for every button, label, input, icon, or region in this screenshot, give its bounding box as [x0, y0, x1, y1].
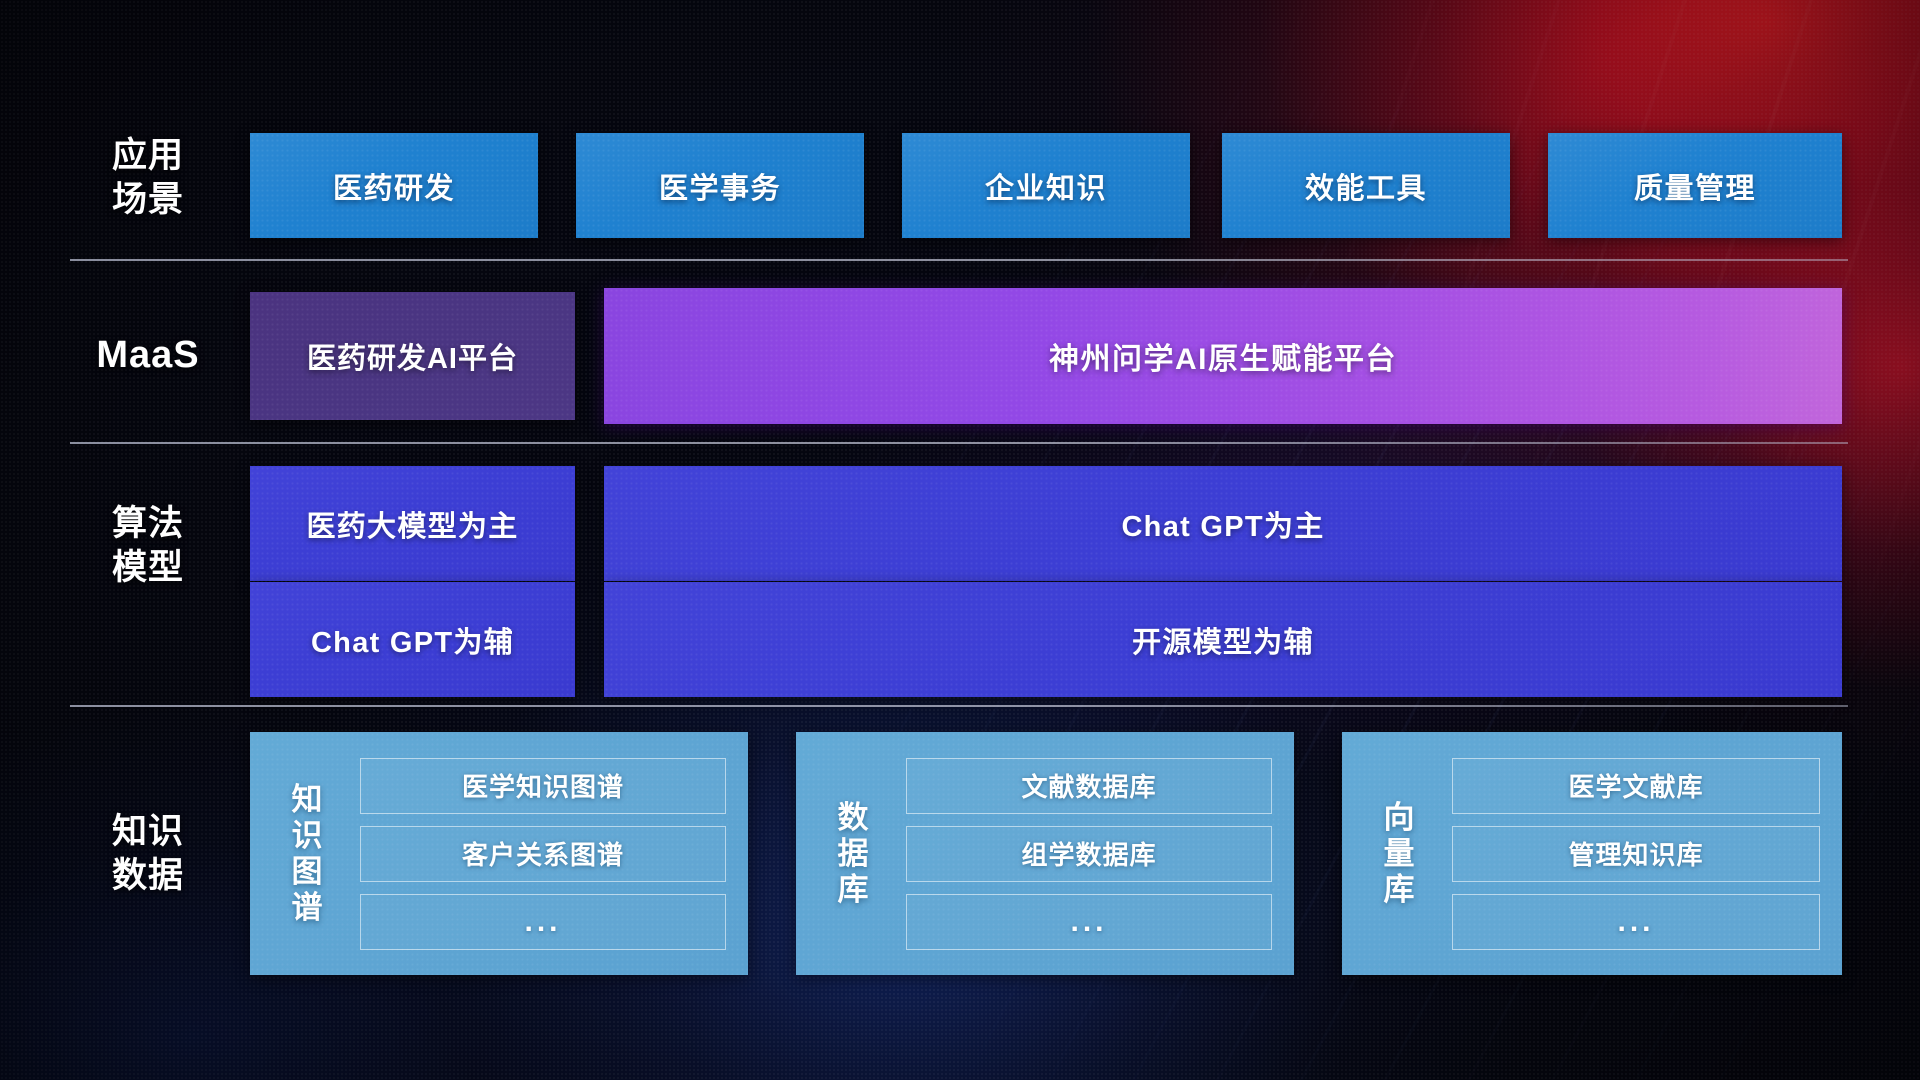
knowledge-group-0-item-1[interactable]: 客户关系图谱	[360, 826, 726, 882]
row-label-application-line1: 应用	[88, 134, 208, 178]
knowledge-group-1[interactable]: 数 据 库 文献数据库 组学数据库 ...	[796, 732, 1294, 975]
row-label-knowledge-line1: 知识	[88, 810, 208, 854]
knowledge-group-1-item-0[interactable]: 文献数据库	[906, 758, 1272, 814]
row-label-knowledge-line2: 数据	[88, 854, 208, 898]
algorithm-box-1-label: Chat GPT为主	[1121, 503, 1324, 545]
algorithm-box-2[interactable]: Chat GPT为辅	[250, 582, 575, 697]
app-box-0[interactable]: 医药研发	[250, 133, 538, 238]
knowledge-group-0-item-2[interactable]: ...	[360, 894, 726, 950]
row-label-algorithm: 算法 模型	[88, 502, 208, 590]
knowledge-group-2-title-char-2: 库	[1384, 872, 1415, 908]
row-label-application: 应用 场景	[88, 134, 208, 222]
maas-right-box[interactable]: 神州问学AI原生赋能平台	[604, 288, 1842, 424]
knowledge-group-2[interactable]: 向 量 库 医学文献库 管理知识库 ...	[1342, 732, 1842, 975]
knowledge-group-1-title-char-0: 数	[838, 800, 869, 836]
knowledge-group-2-item-2[interactable]: ...	[1452, 894, 1820, 950]
app-box-1-label: 医学事务	[659, 165, 781, 207]
row-label-algorithm-line2: 模型	[88, 546, 208, 590]
maas-right-box-label: 神州问学AI原生赋能平台	[1049, 334, 1397, 378]
row-label-knowledge: 知识 数据	[88, 810, 208, 898]
knowledge-group-0[interactable]: 知 识 图 谱 医学知识图谱 客户关系图谱 ...	[250, 732, 748, 975]
knowledge-group-0-items: 医学知识图谱 客户关系图谱 ...	[346, 732, 748, 975]
knowledge-group-0-title-char-0: 知	[292, 782, 323, 818]
app-box-1[interactable]: 医学事务	[576, 133, 864, 238]
algorithm-box-3[interactable]: 开源模型为辅	[604, 582, 1842, 697]
row-label-maas: MaaS	[88, 333, 208, 377]
knowledge-group-2-items: 医学文献库 管理知识库 ...	[1438, 732, 1842, 975]
knowledge-group-1-item-1[interactable]: 组学数据库	[906, 826, 1272, 882]
architecture-diagram: 应用 场景 医药研发 医学事务 企业知识 效能工具 质量管理 MaaS 医药研发…	[0, 0, 1920, 1080]
app-box-0-label: 医药研发	[333, 165, 455, 207]
knowledge-group-0-title: 知 识 图 谱	[268, 732, 346, 975]
app-box-3[interactable]: 效能工具	[1222, 133, 1510, 238]
knowledge-group-1-item-2[interactable]: ...	[906, 894, 1272, 950]
knowledge-group-0-title-char-1: 识	[292, 818, 323, 854]
knowledge-group-2-title-char-0: 向	[1384, 800, 1415, 836]
row-label-maas-text: MaaS	[88, 333, 208, 377]
row-label-application-line2: 场景	[88, 178, 208, 222]
app-box-3-label: 效能工具	[1305, 165, 1427, 207]
algorithm-box-3-label: 开源模型为辅	[1132, 619, 1314, 661]
knowledge-group-2-item-0[interactable]: 医学文献库	[1452, 758, 1820, 814]
maas-left-box[interactable]: 医药研发AI平台	[250, 292, 575, 420]
knowledge-group-0-title-char-3: 谱	[292, 890, 323, 926]
algorithm-box-2-label: Chat GPT为辅	[311, 619, 514, 661]
divider-maas-algorithm	[70, 442, 1848, 444]
knowledge-group-1-items: 文献数据库 组学数据库 ...	[892, 732, 1294, 975]
knowledge-group-0-title-char-2: 图	[292, 854, 323, 890]
knowledge-group-2-title: 向 量 库	[1360, 732, 1438, 975]
divider-application-maas	[70, 259, 1848, 261]
knowledge-group-1-title-char-1: 据	[838, 836, 869, 872]
knowledge-group-2-item-1[interactable]: 管理知识库	[1452, 826, 1820, 882]
algorithm-box-0[interactable]: 医药大模型为主	[250, 466, 575, 581]
knowledge-group-0-item-0[interactable]: 医学知识图谱	[360, 758, 726, 814]
row-label-algorithm-line1: 算法	[88, 502, 208, 546]
app-box-2-label: 企业知识	[985, 165, 1107, 207]
maas-left-box-label: 医药研发AI平台	[307, 335, 518, 377]
divider-algorithm-knowledge	[70, 705, 1848, 707]
knowledge-group-1-title: 数 据 库	[814, 732, 892, 975]
app-box-4[interactable]: 质量管理	[1548, 133, 1842, 238]
algorithm-box-1[interactable]: Chat GPT为主	[604, 466, 1842, 581]
app-box-2[interactable]: 企业知识	[902, 133, 1190, 238]
knowledge-group-1-title-char-2: 库	[838, 872, 869, 908]
knowledge-group-2-title-char-1: 量	[1384, 836, 1415, 872]
algorithm-box-0-label: 医药大模型为主	[306, 503, 518, 545]
app-box-4-label: 质量管理	[1634, 165, 1756, 207]
